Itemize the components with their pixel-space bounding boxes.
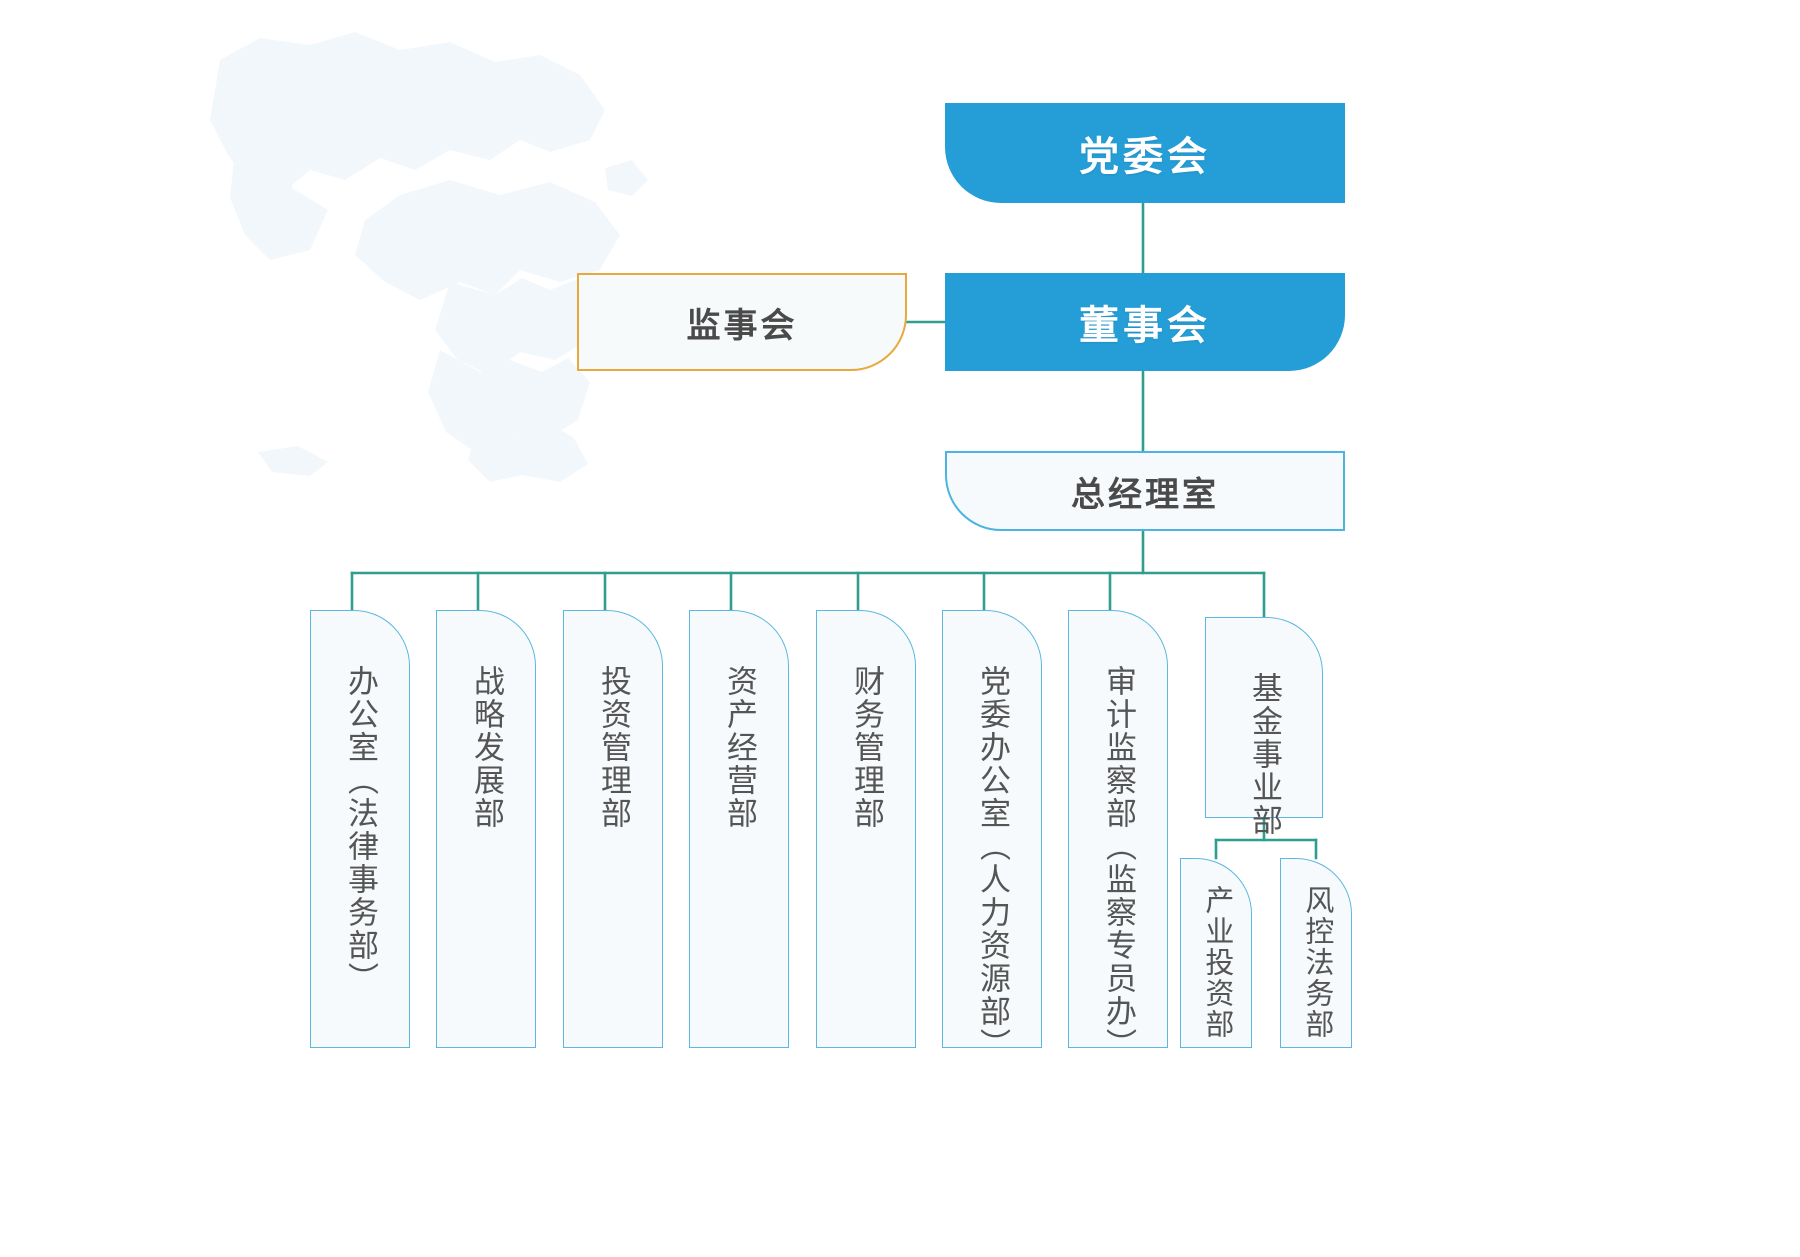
node-dept-investment-management[interactable]: 投资管理部	[563, 610, 663, 1048]
node-dept-party-office-hr[interactable]: 党委办公室（人力资源部）	[942, 610, 1042, 1048]
org-chart-canvas: 党委会 董事会 监事会 总经理室 办公室（法律事务部） 战略发展部 投资管理部 …	[0, 0, 1800, 1257]
node-dept-fund-business[interactable]: 基金事业部	[1205, 617, 1323, 818]
node-party-committee-label: 党委会	[1079, 124, 1211, 182]
node-subdept-industrial-investment[interactable]: 产业投资部	[1180, 858, 1252, 1048]
node-dept-office-legal[interactable]: 办公室（法律事务部）	[310, 610, 410, 1048]
node-dept-financial-management-label: 财务管理部	[848, 665, 884, 830]
node-subdept-risk-legal[interactable]: 风控法务部	[1280, 858, 1352, 1048]
node-dept-strategy-development[interactable]: 战略发展部	[436, 610, 536, 1048]
node-dept-asset-operation[interactable]: 资产经营部	[689, 610, 789, 1048]
node-general-manager-office-label: 总经理室	[1071, 467, 1219, 516]
node-dept-asset-operation-label: 资产经营部	[721, 665, 757, 830]
node-subdept-industrial-investment-label: 产业投资部	[1199, 885, 1233, 1040]
node-dept-fund-business-label: 基金事业部	[1246, 672, 1282, 837]
node-general-manager-office[interactable]: 总经理室	[945, 451, 1345, 531]
node-board-of-supervisors-label: 监事会	[687, 298, 798, 347]
node-dept-party-office-hr-label: 党委办公室（人力资源部）	[974, 665, 1010, 1061]
node-dept-strategy-development-label: 战略发展部	[468, 665, 504, 830]
node-dept-office-legal-label: 办公室（法律事务部）	[342, 665, 378, 995]
node-dept-investment-management-label: 投资管理部	[595, 665, 631, 830]
node-dept-audit-supervision-label: 审计监察部（监察专员办）	[1100, 665, 1136, 1061]
node-dept-financial-management[interactable]: 财务管理部	[816, 610, 916, 1048]
node-board-of-supervisors[interactable]: 监事会	[577, 273, 907, 371]
node-subdept-risk-legal-label: 风控法务部	[1299, 885, 1333, 1040]
node-dept-audit-supervision[interactable]: 审计监察部（监察专员办）	[1068, 610, 1168, 1048]
china-map-watermark	[150, 20, 670, 490]
node-board-of-directors[interactable]: 董事会	[945, 273, 1345, 371]
node-party-committee[interactable]: 党委会	[945, 103, 1345, 203]
node-board-of-directors-label: 董事会	[1079, 293, 1211, 351]
